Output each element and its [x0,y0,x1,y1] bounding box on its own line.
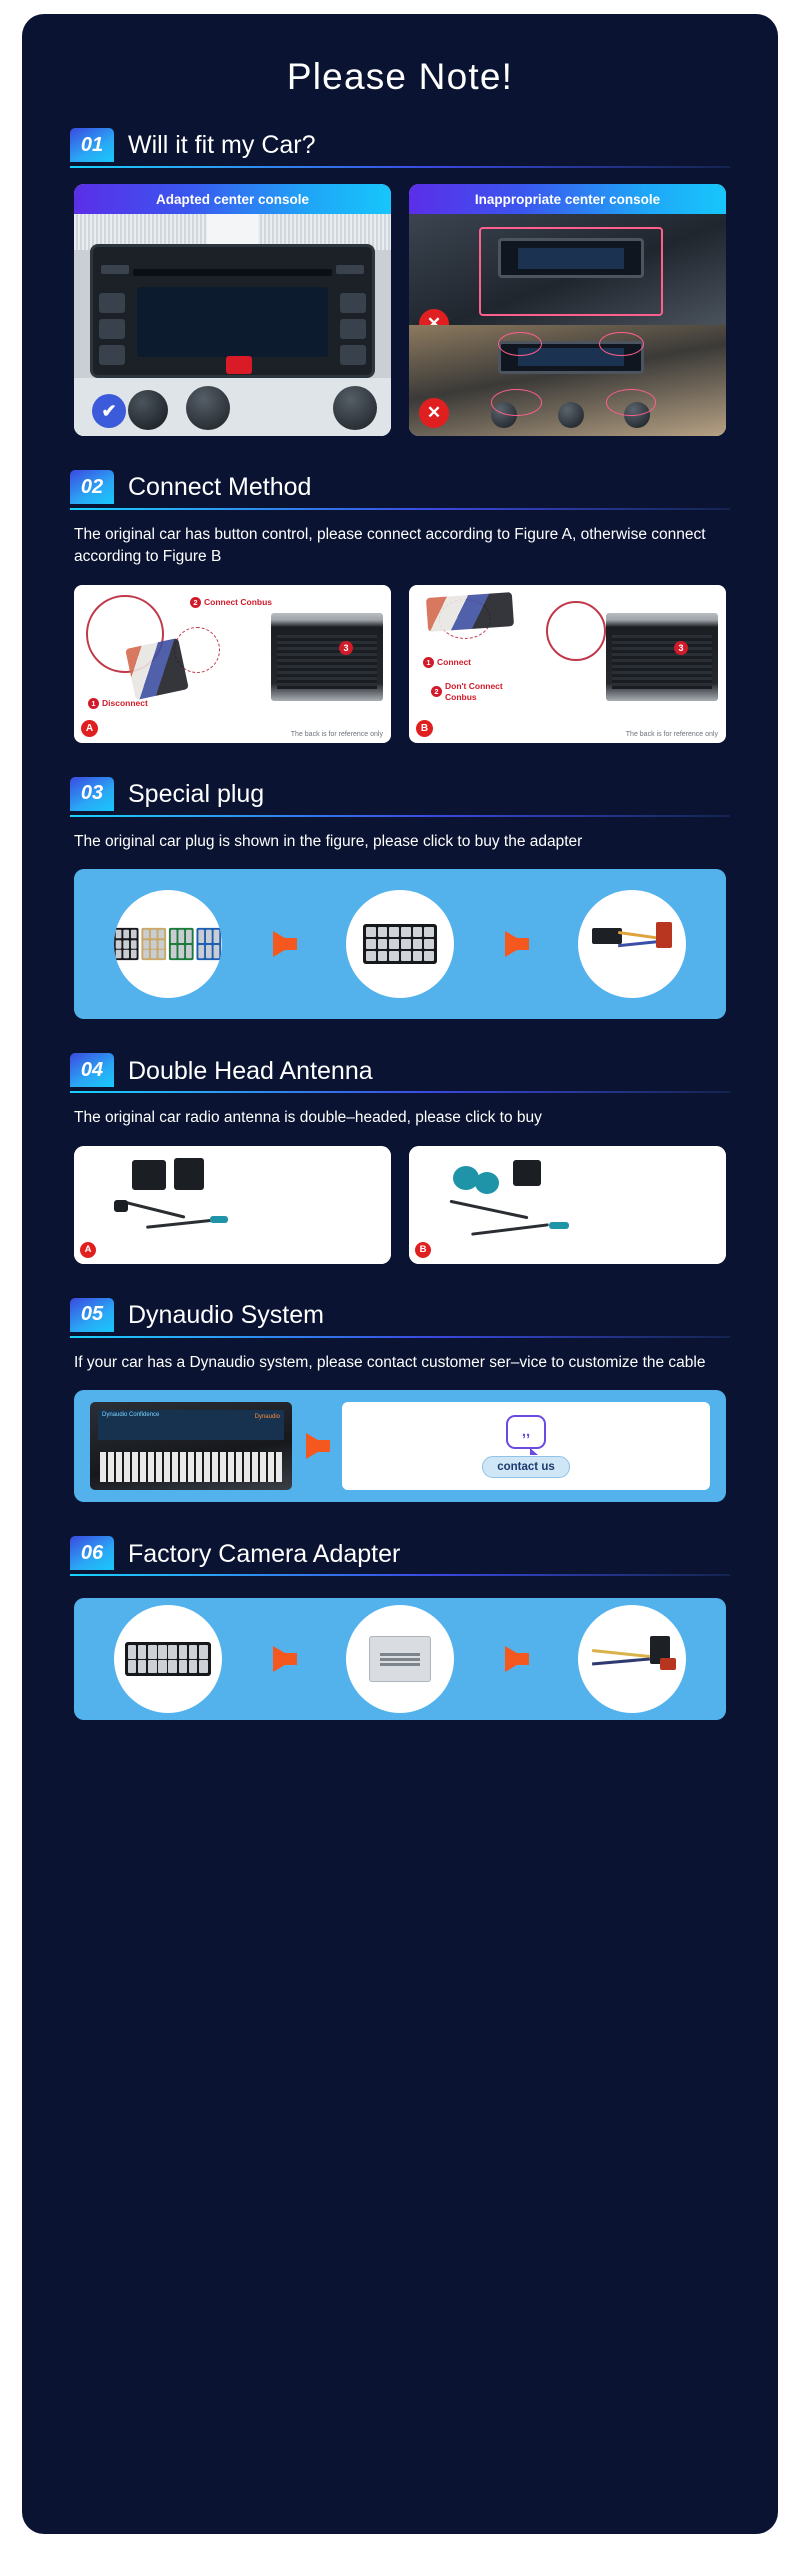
page-title: Please Note! [50,56,750,98]
figure-b-caption: The back is for reference only [626,731,718,738]
dynaudio-screen-label: Dynaudio Confidence [102,1412,159,1418]
section-02: 02 Connect Method The original car has b… [50,470,750,743]
section-06-divider [70,1574,730,1576]
bad-console-x-badge-bottom: ✕ [419,398,449,428]
section-05-body: If your car has a Dynaudio system, pleas… [50,1338,750,1374]
section-05-title: Dynaudio System [114,1301,324,1332]
adapter-cable-circle[interactable] [578,890,686,998]
camera-flow-arrow-2-icon [505,1646,527,1672]
adapter-plug-art [363,924,437,964]
antenna-photo-b: B [409,1146,726,1264]
camera-cable-art [586,1630,678,1688]
section-04-number: 04 [70,1053,114,1087]
section-06-title: Factory Camera Adapter [114,1540,400,1571]
adapter-cable-art [588,914,676,974]
adapted-console-check-badge: ✔ [92,394,126,428]
section-06-number: 06 [70,1536,114,1570]
section-03-body: The original car plug is shown in the fi… [50,817,750,853]
original-plug-art [114,928,221,960]
section-04: 04 Double Head Antenna The original car … [50,1053,750,1263]
figure-b-detail-circle [546,601,606,661]
section-03-number: 03 [70,777,114,811]
camera-connector-circle[interactable] [114,1605,222,1713]
figure-a-step1-bullet: 1 [88,698,99,709]
chat-bubble-icon: ,, [506,1415,546,1449]
figure-b-head-unit-art [606,613,718,701]
figure-b-step1-label: 1 Connect [423,657,471,668]
antenna-panel-a[interactable]: A [74,1146,391,1264]
section-02-title: Connect Method [114,473,311,504]
section-04-body: The original car radio antenna is double… [50,1093,750,1129]
figure-b-step1-bullet: 1 [423,657,434,668]
inappropriate-console-photos: ✕ ✕ [409,214,726,436]
section-01-title: Will it fit my Car? [114,131,316,162]
dynaudio-piano-keys [100,1452,282,1482]
antenna-photo-a: A [74,1146,391,1264]
adapted-console-photo: ✔ [74,214,391,436]
section-01: 01 Will it fit my Car? Adapted center co… [50,128,750,436]
section-04-panels: A B [50,1130,750,1264]
figure-b-badge: B [416,720,433,737]
figure-b-step2-bullet: 2 [431,686,442,697]
section-03-heading: 03 Special plug [50,777,750,811]
adapter-plug-circle[interactable] [346,890,454,998]
antenna-a-badge: A [80,1242,96,1258]
inappropriate-console-panel[interactable]: Inappropriate center console ✕ [409,184,726,436]
section-01-number: 01 [70,128,114,162]
section-03: 03 Special plug The original car plug is… [50,777,750,1019]
figure-b-step3-marker: 3 [674,641,688,655]
camera-decoder-box-circle[interactable] [346,1605,454,1713]
camera-cable-circle[interactable] [578,1605,686,1713]
section-02-number: 02 [70,470,114,504]
figure-a-step3-marker: 3 [339,641,353,655]
antenna-panel-b[interactable]: B [409,1146,726,1264]
figure-a-badge: A [81,720,98,737]
figure-b-harness-art [426,592,514,632]
figure-a-step1-label: 1 Disconnect [88,698,148,709]
contact-us-button[interactable]: contact us [482,1456,570,1478]
figure-a-panel[interactable]: 3 1 Disconnect 2 Connect Conbus A The ba… [74,585,391,743]
adapted-console-panel[interactable]: Adapted center console [74,184,391,436]
dynaudio-flow: Dynaudio Confidence Dynaudio ,, contact … [74,1390,726,1502]
dynaudio-brand-tag: Dynaudio [255,1414,280,1420]
figure-b-step2-label: 2 Don't Connect Conbus [431,681,509,702]
bad-console-x-badge-top: ✕ [419,309,449,325]
section-01-heading: 01 Will it fit my Car? [50,128,750,162]
dynaudio-flow-arrow-icon [306,1433,328,1459]
bad-console-photo-bottom: ✕ [409,325,726,436]
section-05-number: 05 [70,1298,114,1332]
section-02-figures: 3 1 Disconnect 2 Connect Conbus A The ba… [50,569,750,743]
figure-a-head-unit-art [271,613,383,701]
original-plug-circle[interactable] [114,890,222,998]
camera-adapter-flow [74,1598,726,1720]
inappropriate-console-label: Inappropriate center console [409,184,726,214]
camera-decoder-box-art [369,1636,431,1682]
section-04-heading: 04 Double Head Antenna [50,1053,750,1087]
section-06: 06 Factory Camera Adapter [50,1536,750,1720]
section-06-heading: 06 Factory Camera Adapter [50,1536,750,1570]
flow-arrow-2-icon [505,931,527,957]
figure-a-harness-art [125,638,189,700]
figure-a-caption: The back is for reference only [291,731,383,738]
figure-a-step2-bullet: 2 [190,597,201,608]
section-01-panels: Adapted center console [50,168,750,436]
section-04-title: Double Head Antenna [114,1057,373,1088]
flow-arrow-1-icon [273,931,295,957]
adapted-console-label: Adapted center console [74,184,391,214]
please-note-card: Please Note! 01 Will it fit my Car? Adap… [22,14,778,2534]
figure-a-step2-label: 2 Connect Conbus [190,597,272,608]
camera-connector-art [125,1642,211,1676]
dynaudio-screen-photo: Dynaudio Confidence Dynaudio [90,1402,292,1490]
section-05-heading: 05 Dynaudio System [50,1298,750,1332]
figure-b-panel[interactable]: 3 1 Connect 2 Don't Connect Conbus B The… [409,585,726,743]
section-02-body: The original car has button control, ple… [50,510,750,569]
antenna-b-badge: B [415,1242,431,1258]
section-03-title: Special plug [114,780,264,811]
special-plug-flow [74,869,726,1019]
bad-console-photo-top: ✕ [409,214,726,325]
section-02-heading: 02 Connect Method [50,470,750,504]
section-05: 05 Dynaudio System If your car has a Dyn… [50,1298,750,1502]
camera-flow-arrow-1-icon [273,1646,295,1672]
contact-card[interactable]: ,, contact us [342,1402,710,1490]
